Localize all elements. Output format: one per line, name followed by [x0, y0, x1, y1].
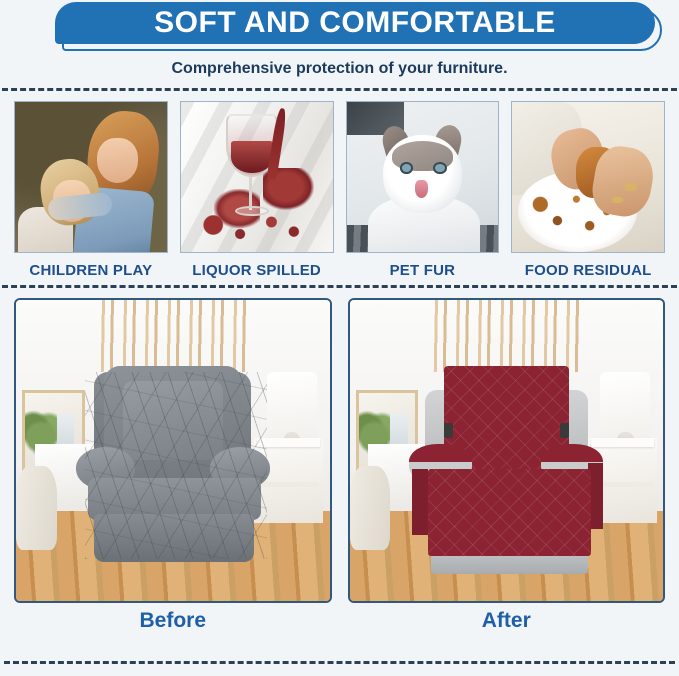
feature-thumbnail-row: CHILDREN PLAY LIQUOR SPILLED: [0, 91, 679, 279]
comparison-label-before: Before: [139, 609, 206, 633]
banner-fill-shape: SOFT AND COMFORTABLE: [55, 2, 655, 44]
comparison-item-before: Before: [14, 298, 332, 633]
feature-label-liquor-spilled: LIQUOR SPILLED: [192, 262, 321, 279]
feature-item-food-residual: FOOD RESIDUAL: [511, 101, 665, 279]
page-subtitle: Comprehensive protection of your furnitu…: [0, 60, 679, 78]
comparison-item-after: After: [348, 298, 666, 633]
feature-label-food-residual: FOOD RESIDUAL: [525, 262, 652, 279]
feature-item-liquor-spilled: LIQUOR SPILLED: [180, 101, 334, 279]
comparison-image-before: [14, 298, 332, 603]
header-banner: SOFT AND COMFORTABLE: [0, 0, 679, 52]
feature-item-pet-fur: PET FUR: [346, 101, 500, 279]
comparison-image-after: [348, 298, 666, 603]
feature-image-pet-fur: [346, 101, 500, 253]
feature-label-pet-fur: PET FUR: [390, 262, 456, 279]
comparison-label-after: After: [482, 609, 531, 633]
feature-image-liquor-spilled: [180, 101, 334, 253]
comparison-row: Before: [0, 288, 679, 633]
feature-item-children-play: CHILDREN PLAY: [14, 101, 168, 279]
feature-image-children-play: [14, 101, 168, 253]
feature-label-children-play: CHILDREN PLAY: [29, 262, 152, 279]
feature-image-food-residual: [511, 101, 665, 253]
page-title: SOFT AND COMFORTABLE: [154, 6, 556, 40]
divider-bottom: [4, 661, 675, 664]
